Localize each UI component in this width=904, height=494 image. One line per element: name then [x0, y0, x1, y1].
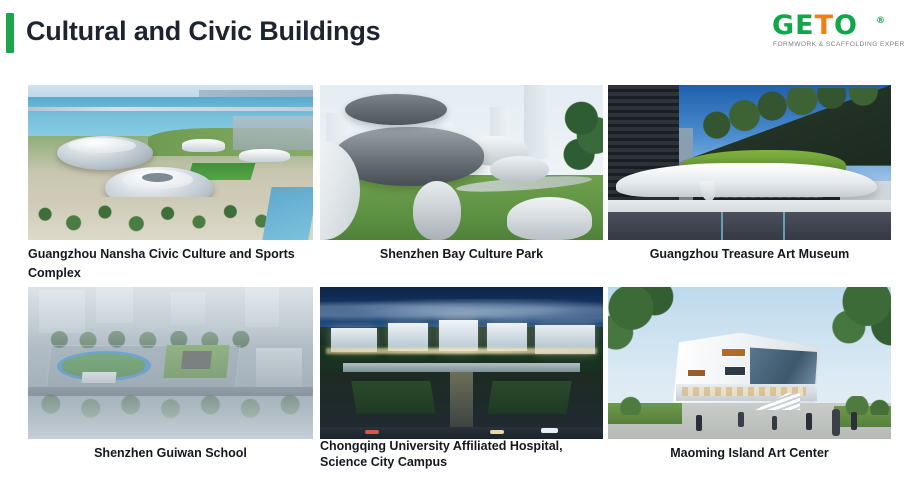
project-image-shenzhen-guiwan[interactable]	[28, 287, 313, 439]
project-image-maoming-island[interactable]	[608, 287, 891, 439]
project-image-guangzhou-treasure[interactable]	[608, 85, 891, 240]
project-caption-chongqing-hospital: Chongqing University Affiliated Hospital…	[320, 439, 600, 470]
project-caption-maoming-island: Maoming Island Art Center	[608, 444, 891, 463]
project-caption-shenzhen-bay: Shenzhen Bay Culture Park	[320, 245, 603, 264]
gallery-item-maoming-island[interactable]: Maoming Island Art Center	[608, 287, 891, 439]
project-image-guangzhou-nansha[interactable]	[28, 85, 313, 240]
gallery-item-guangzhou-treasure[interactable]: Guangzhou Treasure Art Museum	[608, 85, 891, 240]
project-image-chongqing-hospital[interactable]	[320, 287, 603, 439]
gallery-item-shenzhen-bay[interactable]: Shenzhen Bay Culture Park	[320, 85, 603, 240]
project-caption-guangzhou-treasure: Guangzhou Treasure Art Museum	[608, 245, 891, 264]
project-image-shenzhen-bay[interactable]	[320, 85, 603, 240]
project-gallery: Guangzhou Nansha Civic Culture and Sport…	[0, 0, 904, 494]
project-caption-shenzhen-guiwan: Shenzhen Guiwan School	[28, 444, 313, 463]
gallery-item-guangzhou-nansha[interactable]: Guangzhou Nansha Civic Culture and Sport…	[28, 85, 313, 240]
gallery-item-chongqing-hospital[interactable]: Chongqing University Affiliated Hospital…	[320, 287, 603, 439]
project-caption-guangzhou-nansha: Guangzhou Nansha Civic Culture and Sport…	[28, 245, 298, 284]
gallery-item-shenzhen-guiwan[interactable]: Shenzhen Guiwan School	[28, 287, 313, 439]
